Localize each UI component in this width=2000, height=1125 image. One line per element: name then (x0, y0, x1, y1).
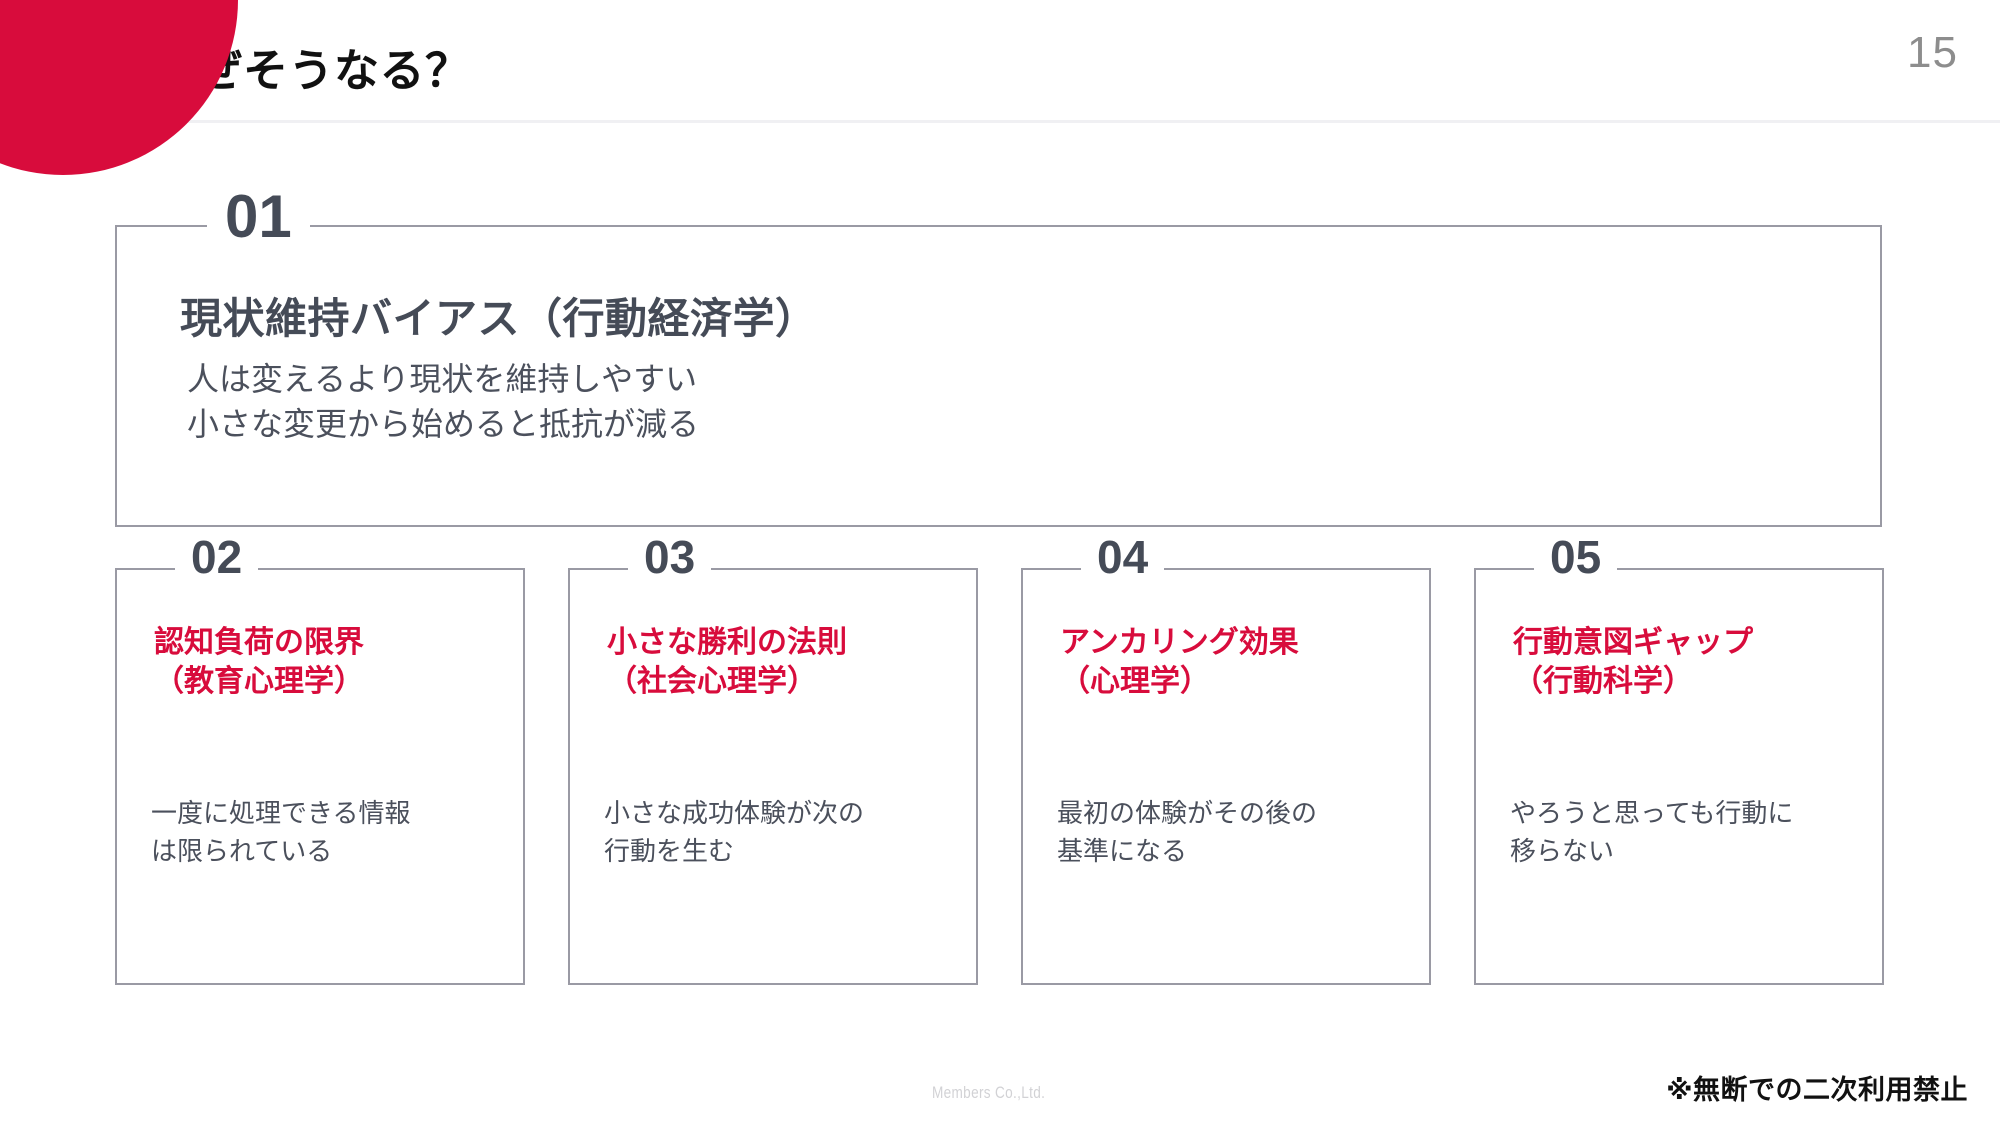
card-03-number: 03 (628, 534, 711, 580)
card-05-title: 行動意図ギャップ （行動科学） (1513, 623, 1753, 701)
card-02-number: 02 (175, 534, 258, 580)
slide-header: なぜそうなる？ 15 (0, 0, 2000, 122)
footer-copyright-notice: ※無断での二次利用禁止 (1666, 1068, 1968, 1107)
card-03-title: 小さな勝利の法則 （社会心理学） (607, 623, 847, 701)
card-03-body: 小さな成功体験が次の 行動を生む (604, 795, 864, 870)
card-01-title: 現状維持バイアス（行動経済学） (180, 285, 818, 346)
card-01-body: 人は変えるより現状を維持しやすい 小さな変更から始めると抵抗が減る (187, 357, 699, 448)
card-04: 04 アンカリング効果 （心理学） 最初の体験がその後の 基準になる (1021, 568, 1431, 985)
card-02: 02 認知負荷の限界 （教育心理学） 一度に処理できる情報 は限られている (115, 568, 525, 985)
footer-company-name: Members Co.,Ltd. (932, 1083, 1045, 1103)
card-03: 03 小さな勝利の法則 （社会心理学） 小さな成功体験が次の 行動を生む (568, 568, 978, 985)
card-04-number: 04 (1081, 534, 1164, 580)
card-05-body: やろうと思っても行動に 移らない (1510, 795, 1793, 870)
card-01: 01 現状維持バイアス（行動経済学） 人は変えるより現状を維持しやすい 小さな変… (115, 225, 1882, 527)
card-05: 05 行動意図ギャップ （行動科学） やろうと思っても行動に 移らない (1474, 568, 1884, 985)
card-02-body: 一度に処理できる情報 は限られている (151, 795, 410, 870)
card-05-number: 05 (1534, 534, 1617, 580)
card-04-body: 最初の体験がその後の 基準になる (1057, 795, 1317, 870)
card-02-title: 認知負荷の限界 （教育心理学） (154, 623, 364, 701)
header-divider (130, 120, 2000, 123)
red-corner-decoration (0, 0, 238, 175)
page-number: 15 (1907, 28, 1958, 78)
card-04-title: アンカリング効果 （心理学） (1060, 623, 1299, 701)
card-01-number: 01 (207, 187, 310, 247)
